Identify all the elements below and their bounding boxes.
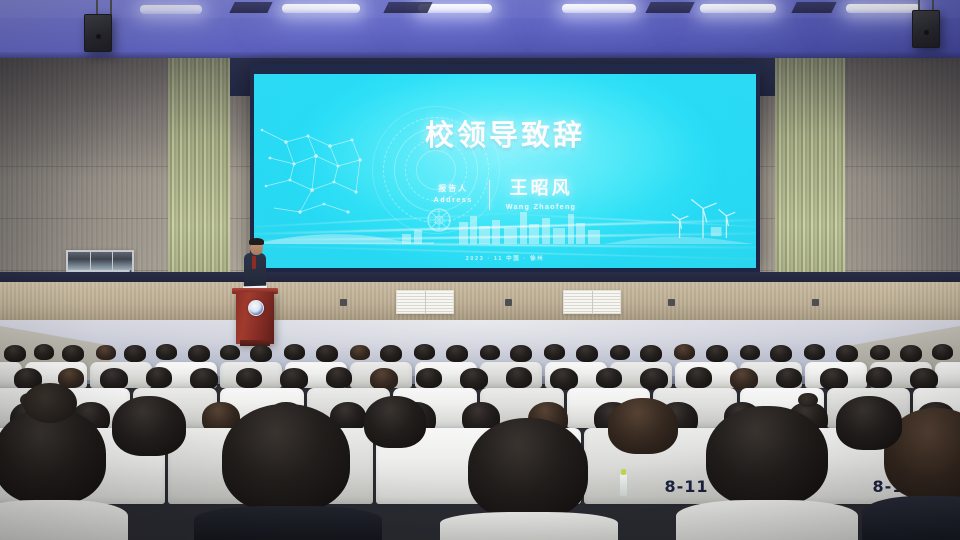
audience-head (0, 408, 106, 504)
slide-footer-date: 2023 · 11 中国 · 徐州 (254, 254, 756, 262)
audience-shoulders (862, 496, 960, 540)
presenter-label-cn: 报告人 (434, 184, 473, 194)
audience-head (468, 418, 588, 520)
ceiling-vent (791, 2, 836, 13)
audience-shoulders (440, 512, 618, 540)
control-booth-window (66, 250, 134, 272)
audience-head (836, 396, 902, 450)
ceiling-light (140, 5, 202, 14)
ceiling-light (846, 4, 920, 13)
presenter-name-cn: 王昭风 (506, 178, 576, 200)
stage-outlet (812, 299, 819, 306)
ceiling-vent (383, 2, 432, 13)
speaker-person-tie (252, 256, 256, 269)
presentation-slide: 校领导致辞 报告人 Address 王昭风 Wang Zhaofeng (254, 74, 756, 268)
seat[interactable] (935, 362, 960, 388)
stage-outlet (668, 299, 675, 306)
ceiling (0, 0, 960, 64)
audience-shoulders (194, 506, 382, 540)
ceiling-vent (229, 2, 272, 13)
ceiling-vent (645, 2, 694, 13)
audience-head (364, 396, 426, 448)
university-seal-icon (248, 300, 264, 316)
audience-head (112, 396, 186, 456)
stage-outlet (505, 299, 512, 306)
presenter-label-group: 报告人 Address (434, 184, 473, 206)
slide-title: 校领导致辞 (254, 112, 756, 154)
audience-head (222, 404, 350, 512)
ceiling-light (700, 4, 776, 13)
hanging-speaker-right (912, 10, 940, 48)
audience-shoulders (0, 500, 128, 540)
auditorium-photo: 校领导致辞 报告人 Address 王昭风 Wang Zhaofeng (0, 0, 960, 540)
audience-head (706, 406, 828, 506)
led-screen: 校领导致辞 报告人 Address 王昭风 Wang Zhaofeng (250, 64, 760, 272)
speaker-person-hair (249, 238, 264, 245)
stage-vent-grille (396, 290, 454, 314)
stage-outlet (340, 299, 347, 306)
stage-vent-grille (563, 290, 621, 314)
audience-shoulders (676, 500, 858, 540)
ceiling-light (282, 4, 360, 13)
audience-head (608, 398, 678, 454)
ceiling-light (562, 4, 636, 13)
water-bottle (620, 474, 627, 496)
hanging-speaker-left (84, 14, 112, 52)
audience-area: 6-1 (0, 330, 960, 540)
